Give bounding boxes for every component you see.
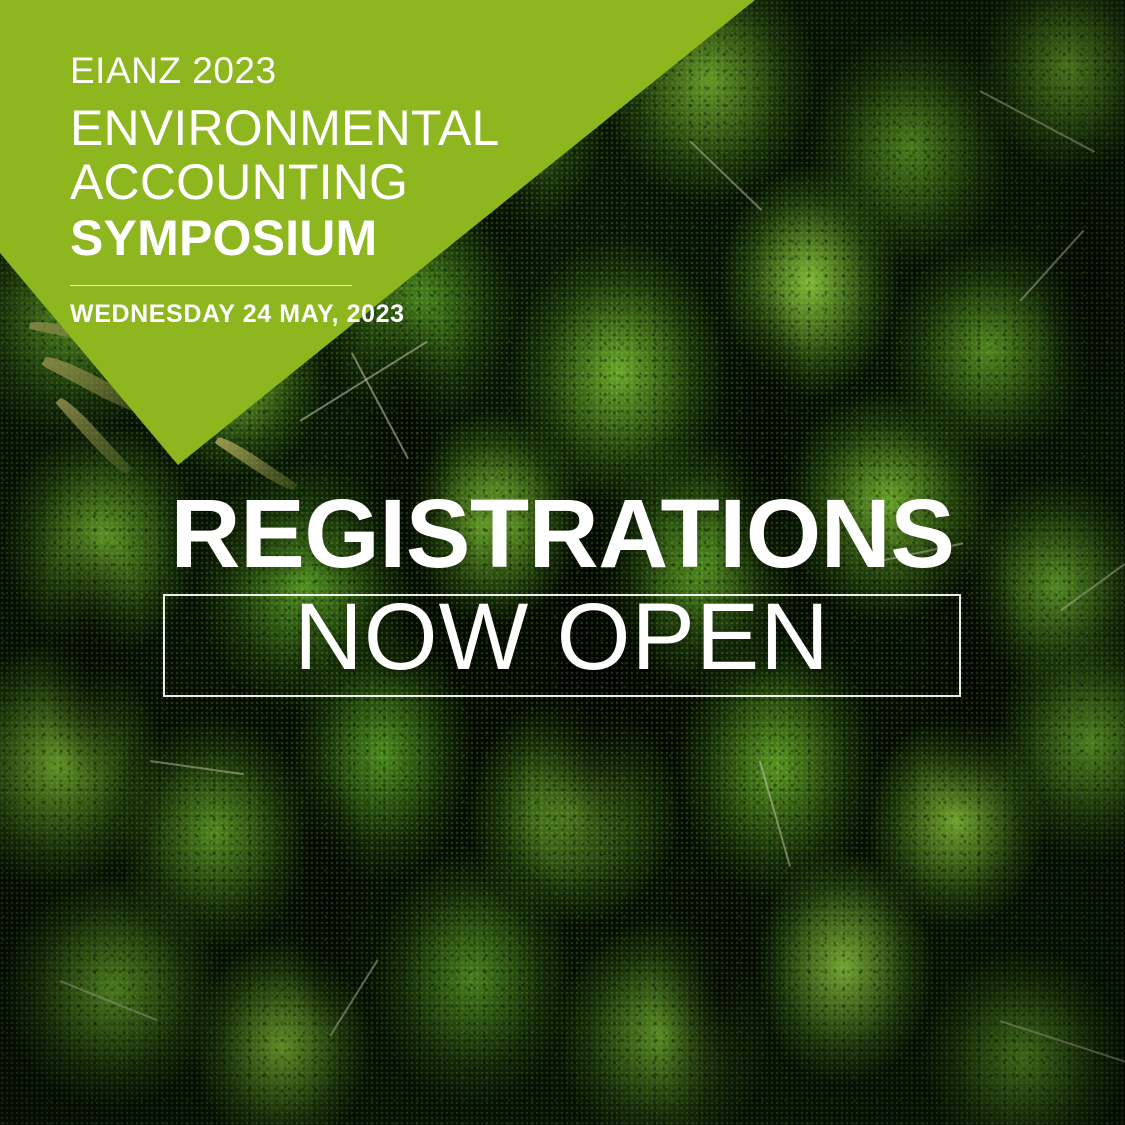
promotional-poster: EIANZ 2023 ENVIRONMENTAL ACCOUNTING SYMP… bbox=[0, 0, 1125, 1125]
event-title-line-3: SYMPOSIUM bbox=[70, 211, 690, 265]
event-date: WEDNESDAY 24 MAY, 2023 bbox=[70, 302, 690, 327]
event-header-block: EIANZ 2023 ENVIRONMENTAL ACCOUNTING SYMP… bbox=[70, 52, 690, 327]
organisation-line: EIANZ 2023 bbox=[70, 52, 690, 89]
hero-headline: REGISTRATIONS bbox=[0, 485, 1125, 582]
event-title-line-2: ACCOUNTING bbox=[70, 155, 690, 209]
hero-subheadline: NOW OPEN bbox=[163, 583, 961, 692]
header-divider-rule bbox=[70, 285, 352, 286]
event-title-line-1: ENVIRONMENTAL bbox=[70, 101, 690, 155]
